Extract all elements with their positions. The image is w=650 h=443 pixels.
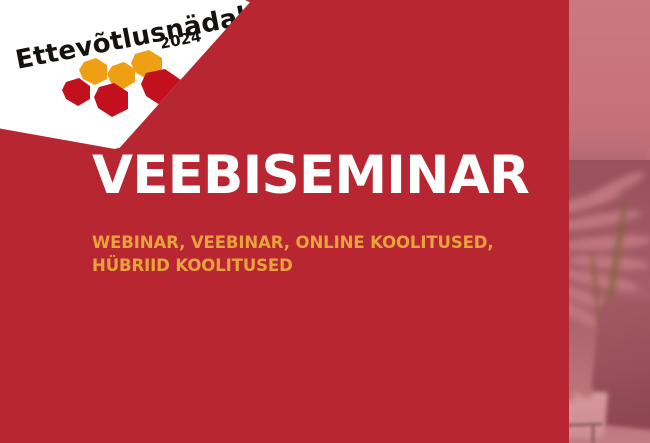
webinar-poster: Ettevõtlusnädal 2024 VEEBISEMINAR WEBINA… xyxy=(0,0,650,443)
subtitle-line-1: WEBINAR, VEEBINAR, ONLINE KOOLITUSED, xyxy=(92,231,592,254)
red-hex-left xyxy=(62,78,90,106)
page-title: VEEBISEMINAR xyxy=(92,149,529,202)
subtitle-line-2: HÜBRIID KOOLITUSED xyxy=(92,254,592,277)
page-subtitle: WEBINAR, VEEBINAR, ONLINE KOOLITUSED, HÜ… xyxy=(92,231,592,278)
